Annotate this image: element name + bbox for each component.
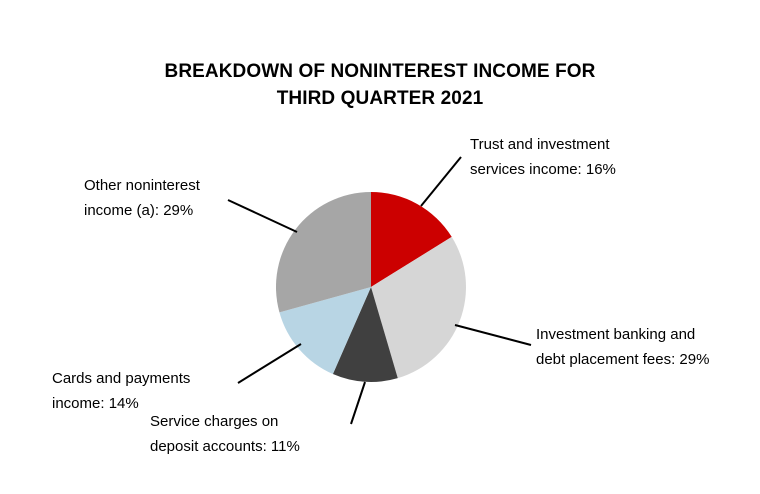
slice-label-service-charges: Service charges on deposit accounts: 11% [150, 409, 360, 459]
slice-label-other-noninterest: Other noninterest income (a): 29% [84, 173, 284, 223]
leader-line-investment-banking [455, 325, 531, 345]
pie-chart-figure: BREAKDOWN OF NONINTEREST INCOME FOR THIR… [0, 0, 760, 494]
leader-line-trust-investment [421, 157, 461, 206]
pie-chart-graphic [0, 0, 760, 494]
slice-label-trust-investment: Trust and investment services income: 16… [470, 132, 680, 182]
slice-label-investment-banking: Investment banking and debt placement fe… [536, 322, 756, 372]
slice-label-cards-payments: Cards and payments income: 14% [52, 366, 252, 416]
